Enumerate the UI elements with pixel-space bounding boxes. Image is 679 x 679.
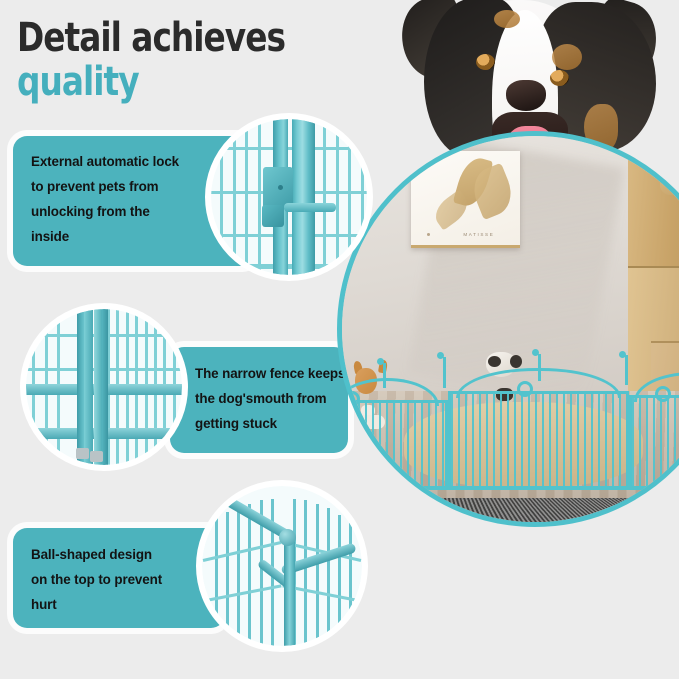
- callout-ball-line-2: on the top to prevent: [31, 567, 207, 592]
- headline-line-1: Detail achieves: [17, 16, 285, 60]
- ball-top-detail-image: [202, 486, 362, 646]
- collie-right-eye: [550, 70, 569, 86]
- fence-bar: [361, 119, 364, 275]
- dog-playpen: [342, 344, 679, 498]
- collie-left-eye: [476, 54, 495, 70]
- collie-tan-marking-left: [494, 10, 520, 28]
- fence-bar: [304, 500, 307, 646]
- fence-bar: [220, 119, 223, 275]
- fence-bar: [245, 119, 248, 275]
- narrow-fence-detail-circle: [20, 303, 188, 471]
- fence-bar: [237, 507, 240, 646]
- shelf-ornament: [640, 148, 666, 163]
- headline-line-2: quality: [17, 61, 285, 103]
- pen-scroll-left: [344, 391, 360, 407]
- callout-lock-line-4: inside: [31, 224, 238, 249]
- callout-narrow-line-1: The narrow fence keeps: [195, 361, 330, 386]
- fence-bar: [336, 119, 339, 275]
- pen-finial-4: [619, 351, 626, 358]
- fence-bar: [316, 504, 319, 646]
- pen-panel-right: [629, 395, 679, 489]
- fence-rail: [211, 234, 367, 237]
- fence-bar: [348, 119, 351, 275]
- pen-finial-1: [377, 358, 384, 365]
- fence-foot-cap: [90, 451, 103, 462]
- pen-spike-3: [538, 354, 541, 382]
- poster-label: MATISSE: [463, 232, 494, 237]
- fence-rail: [211, 147, 367, 150]
- fence-bar: [258, 119, 261, 275]
- fence-bar: [215, 518, 218, 646]
- matisse-poster: MATISSE: [411, 151, 519, 248]
- room-scene-circle: MATISSE: [337, 131, 679, 527]
- callout-lock-line-1: External automatic lock: [31, 149, 238, 174]
- callout-ball-shaped-design: Ball-shaped design on the top to prevent…: [13, 528, 225, 628]
- collie-tan-marking-right: [552, 44, 582, 70]
- lock-detail-circle: [205, 113, 373, 281]
- room-scene: MATISSE: [342, 136, 679, 522]
- lock-lower-housing: [262, 205, 284, 227]
- page-title: Detail achieves quality: [17, 16, 344, 103]
- fence-bar: [327, 508, 330, 646]
- fence-post-group: [77, 309, 107, 465]
- fence-post-main: [292, 119, 315, 275]
- callout-ball-line-1: Ball-shaped design: [31, 542, 207, 567]
- callout-narrow-line-3: getting stuck: [195, 411, 330, 436]
- narrow-fence-detail-image: [26, 309, 182, 465]
- lock-detail-image: [211, 119, 367, 275]
- lock-keyhole: [278, 185, 283, 190]
- infographic-canvas: MATISSE: [0, 0, 679, 679]
- fence-bar: [226, 512, 229, 646]
- fence-foot-cap: [76, 448, 89, 459]
- fence-rail: [211, 264, 367, 269]
- callout-narrow-fence: The narrow fence keeps the dog'smouth fr…: [170, 347, 348, 453]
- collie-nose: [506, 80, 546, 111]
- callout-narrow-line-2: the dog'smouth from: [195, 386, 330, 411]
- pen-panel-left: [342, 400, 448, 490]
- fence-post-vertical: [284, 539, 295, 646]
- fence-bar: [323, 119, 326, 275]
- fence-bar: [338, 515, 341, 646]
- pen-spike-1: [383, 363, 386, 388]
- fence-bar: [233, 119, 236, 275]
- pen-spike-2: [443, 357, 446, 388]
- ball-finial: [279, 529, 296, 546]
- fence-bar: [349, 523, 352, 646]
- callout-ball-line-3: hurt: [31, 592, 207, 617]
- pen-panel-center: [448, 391, 630, 490]
- ball-top-detail-circle: [196, 480, 368, 652]
- poster-mark: [427, 233, 430, 236]
- pen-spike-4: [625, 355, 628, 384]
- lock-handle: [284, 203, 336, 212]
- fence-bar: [248, 504, 251, 646]
